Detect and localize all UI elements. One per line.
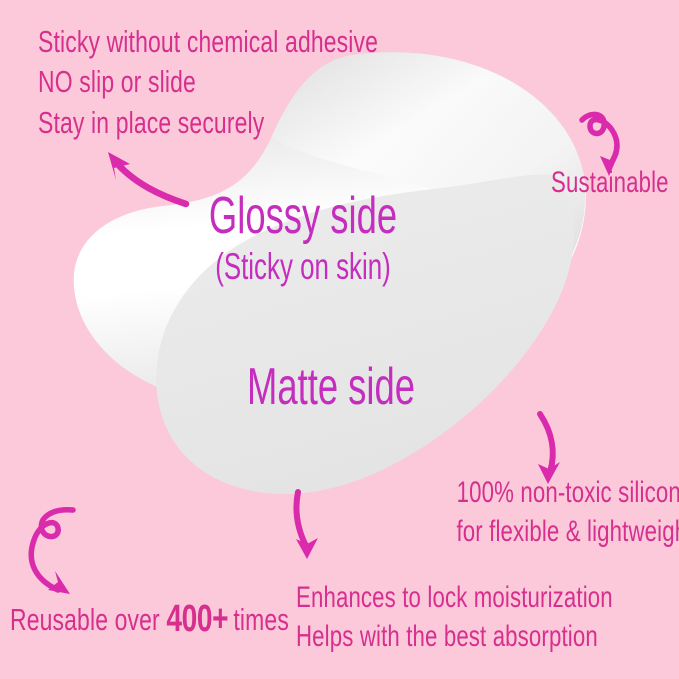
arrow-to-reusable xyxy=(18,498,110,598)
matte-side-title: Matte side xyxy=(247,357,415,417)
feature-line-no-slip: NO slip or slide xyxy=(38,62,378,102)
silicone-line-flexible: for flexible & lightweight xyxy=(456,512,679,551)
arrow-to-moisture xyxy=(276,486,340,568)
reusable-prefix: Reusable over xyxy=(10,602,166,637)
reusable-feature-block: Reusable over 400+times xyxy=(10,595,289,644)
product-infographic: Sticky without chemical adhesive NO slip… xyxy=(0,0,679,679)
silicone-line-non-toxic: 100% non-toxic silicone xyxy=(456,473,679,512)
reusable-count: 400+ xyxy=(166,598,228,640)
glossy-side-title: Glossy side xyxy=(209,186,397,246)
matte-side-heading: Matte side xyxy=(247,357,415,417)
moisture-feature-block: Enhances to lock moisturization Helps wi… xyxy=(296,578,613,656)
silicone-feature-block: 100% non-toxic silicone for flexible & l… xyxy=(456,473,679,551)
glossy-side-heading: Glossy side (Sticky on skin) xyxy=(209,186,397,289)
moisture-line-absorption: Helps with the best absorption xyxy=(296,617,613,656)
top-left-feature-list: Sticky without chemical adhesive NO slip… xyxy=(38,22,378,143)
reusable-suffix: times xyxy=(233,602,289,637)
feature-line-sticky: Sticky without chemical adhesive xyxy=(38,22,378,62)
moisture-line-enhances: Enhances to lock moisturization xyxy=(296,578,613,617)
feature-line-stay-in-place: Stay in place securely xyxy=(38,103,378,143)
label-sustainable: Sustainable xyxy=(551,163,669,202)
glossy-side-subtitle: (Sticky on skin) xyxy=(209,246,397,289)
